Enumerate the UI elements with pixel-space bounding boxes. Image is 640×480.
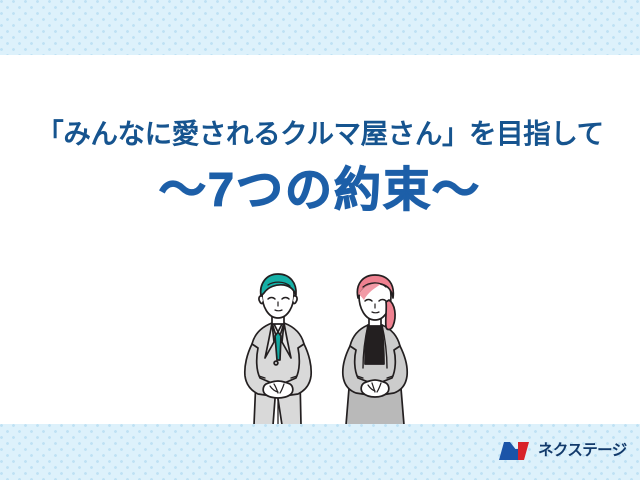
headline-block: 「みんなに愛されるクルマ屋さん」を目指して 〜7つの約束〜 (0, 118, 640, 216)
staff-illustration-svg (232, 272, 432, 428)
female-staff-bowing (343, 275, 407, 425)
headline-line-secondary: 〜7つの約束〜 (0, 164, 640, 216)
male-staff-bowing (245, 274, 311, 425)
brand-logo: ネクステージ (498, 436, 626, 466)
nextage-n-mark-icon (498, 439, 532, 463)
bowing-staff-illustration (232, 272, 432, 428)
top-dot-band (0, 0, 640, 55)
headline-line-primary: 「みんなに愛されるクルマ屋さん」を目指して (0, 118, 640, 150)
brand-wordmark: ネクステージ (538, 443, 627, 459)
slide-canvas: 「みんなに愛されるクルマ屋さん」を目指して 〜7つの約束〜 (0, 0, 640, 480)
